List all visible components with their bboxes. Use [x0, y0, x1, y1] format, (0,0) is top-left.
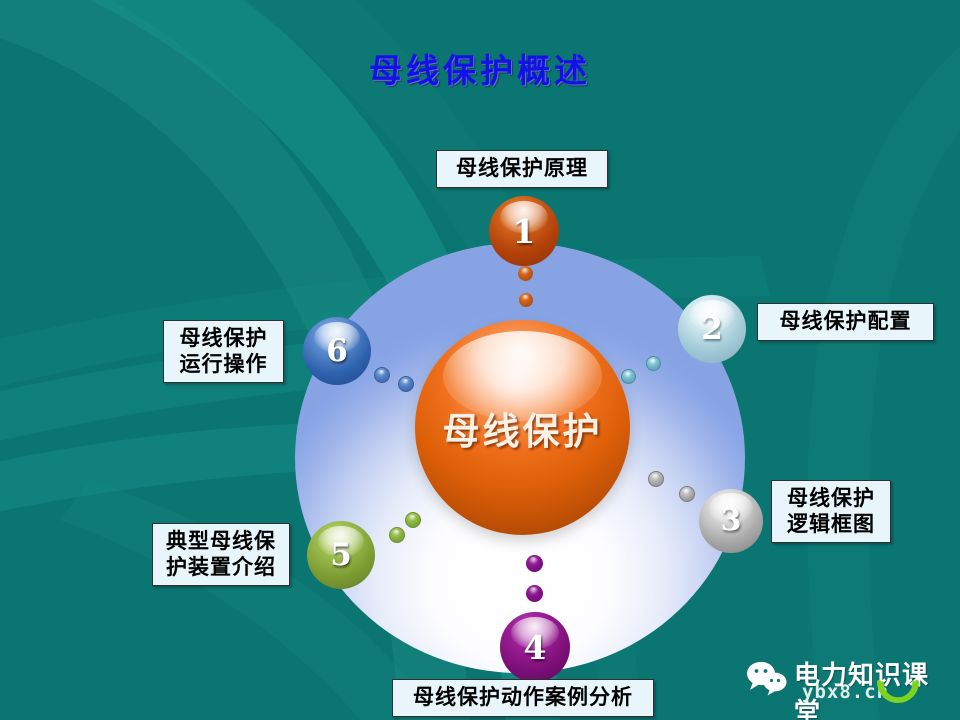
smile-icon [876, 673, 920, 707]
connector-dot-4a [526, 555, 543, 572]
connector-dot-1a [518, 266, 533, 281]
connector-dot-3a [648, 471, 664, 487]
node-number-6: 6 [326, 336, 348, 367]
node-label-5[interactable]: 典型母线保 护装置介绍 [152, 523, 290, 586]
node-sphere-3[interactable]: 3 [699, 489, 763, 553]
node-label-2[interactable]: 母线保护配置 [757, 303, 934, 341]
node-label-3[interactable]: 母线保护 逻辑框图 [771, 480, 891, 543]
slide-canvas: 母线保护概述 母线保护 1 2 3 4 5 6 母线保护原理 母线保护配置 母线… [0, 0, 960, 720]
node-number-5: 5 [330, 540, 352, 571]
node-label-1[interactable]: 母线保护原理 [436, 150, 608, 188]
connector-dot-5b [389, 527, 405, 543]
connector-dot-4b [526, 585, 543, 602]
connector-dot-6b [398, 376, 414, 392]
watermark: 电力知识课堂 ybx8.cn [742, 653, 954, 709]
connector-dot-3b [679, 486, 695, 502]
node-sphere-4[interactable]: 4 [500, 612, 570, 682]
connector-dot-5a [405, 512, 421, 528]
node-sphere-2[interactable]: 2 [678, 295, 746, 363]
node-number-2: 2 [701, 314, 723, 345]
connector-dot-2a [646, 356, 661, 371]
connector-dot-2b [621, 369, 636, 384]
center-sphere-label: 母线保护 [443, 401, 603, 455]
node-sphere-1[interactable]: 1 [489, 196, 559, 266]
wechat-icon [746, 660, 788, 696]
connector-dot-6a [374, 367, 390, 383]
node-label-4[interactable]: 母线保护动作案例分析 [392, 679, 654, 717]
node-sphere-6[interactable]: 6 [303, 317, 371, 385]
node-number-3: 3 [721, 506, 742, 536]
node-number-1: 1 [513, 215, 536, 248]
node-sphere-5[interactable]: 5 [307, 521, 375, 589]
node-label-6[interactable]: 母线保护 运行操作 [163, 320, 284, 383]
slide-title: 母线保护概述 [0, 44, 960, 92]
node-number-4: 4 [524, 631, 547, 664]
center-sphere[interactable]: 母线保护 [415, 320, 630, 535]
connector-dot-1b [519, 293, 533, 307]
